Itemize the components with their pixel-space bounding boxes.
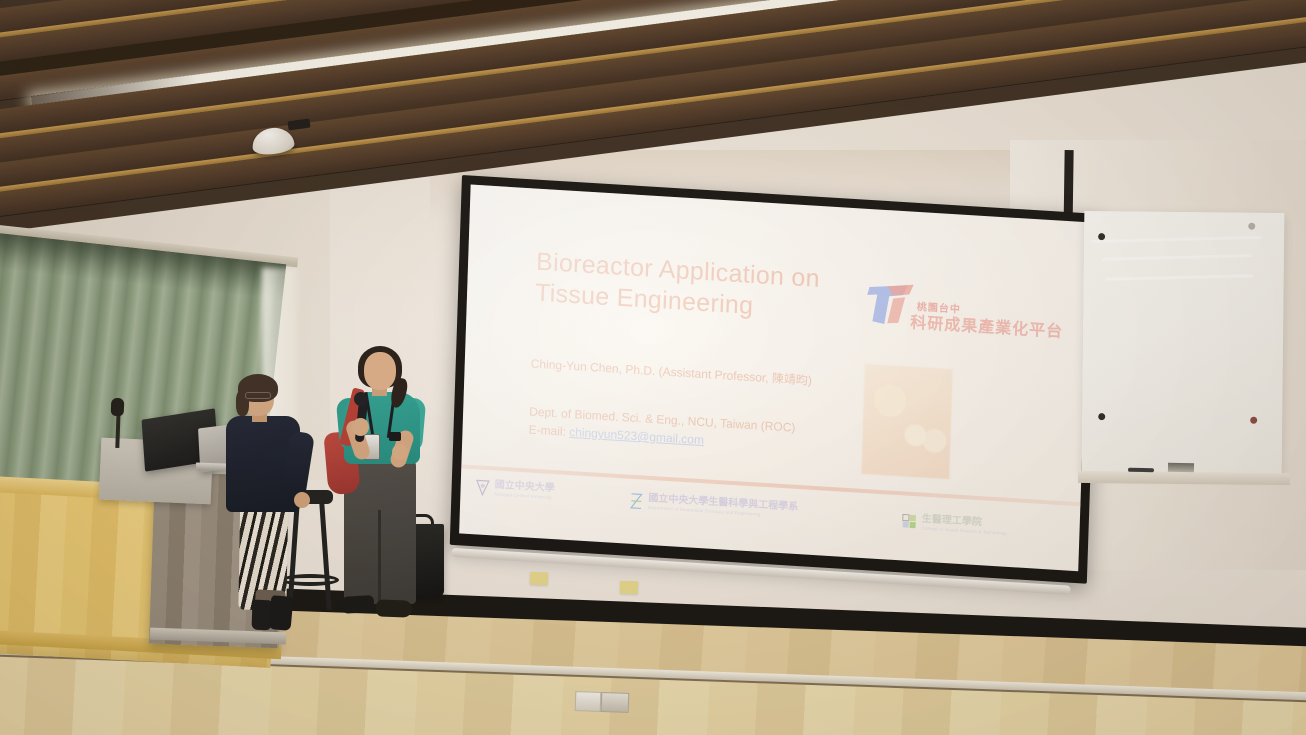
wall-sticky-note	[620, 581, 638, 595]
footer-logo-bme: 國立中央大學生醫科學與工程學系 Department of Biomedical…	[628, 492, 798, 520]
presenter-leg-split	[378, 510, 381, 606]
wall-sticky-note	[530, 572, 548, 586]
projection-screen[interactable]: Bioreactor Application on Tissue Enginee…	[450, 175, 1099, 584]
host-boot-right	[269, 595, 294, 631]
slide-email-link[interactable]: chingyun523@gmail.com	[569, 425, 704, 447]
presenter-shoe-right	[376, 599, 413, 617]
slide-family-photo	[861, 364, 953, 479]
handheld-microphone-head	[354, 392, 368, 406]
presenter-hand-left	[352, 418, 369, 436]
floor-power-outlet[interactable]	[575, 691, 630, 713]
partner-logo: 桃園台中 科研成果產業化平台	[858, 278, 1030, 346]
ncu-crest-icon	[474, 478, 491, 497]
presenter-head	[364, 352, 396, 390]
partner-logo-text-main: 科研成果產業化平台	[910, 309, 1064, 342]
bme-dna-icon	[628, 492, 645, 511]
slide-email-label: E-mail:	[528, 422, 569, 438]
presenter-hand-right	[392, 444, 408, 460]
host-hand	[294, 492, 310, 508]
presenter-shoe-left	[340, 595, 375, 614]
projected-slide: Bioreactor Application on Tissue Enginee…	[459, 185, 1090, 572]
t-shaped-logo-icon	[862, 281, 917, 328]
whiteboard-bolt	[1250, 417, 1257, 424]
microphone-icon[interactable]	[111, 398, 125, 416]
college-grid-icon	[901, 512, 918, 531]
footer-logo-ncu: 國立中央大學 National Central University	[474, 478, 554, 501]
glass-whiteboard[interactable]	[1082, 211, 1285, 475]
lecture-hall-photo: Bioreactor Application on Tissue Enginee…	[0, 0, 1306, 735]
whiteboard-bolt	[1098, 413, 1105, 420]
whiteboard-eraser[interactable]	[1168, 463, 1194, 472]
footer-logo-ncu-en: National Central University	[494, 492, 554, 500]
slide-author: Ching-Yun Chen, Ph.D. (Assistant Profess…	[531, 354, 813, 388]
presenter-watch-icon	[389, 432, 401, 441]
footer-logo-college: 生醫理工學院 College of Health Science & Techn…	[901, 512, 1007, 536]
whiteboard-bolt	[1098, 233, 1105, 240]
whiteboard-marker[interactable]	[1128, 468, 1154, 472]
host-glasses-icon	[245, 392, 271, 399]
whiteboard-bolt	[1248, 223, 1255, 230]
whiteboard-tray	[1078, 471, 1290, 485]
